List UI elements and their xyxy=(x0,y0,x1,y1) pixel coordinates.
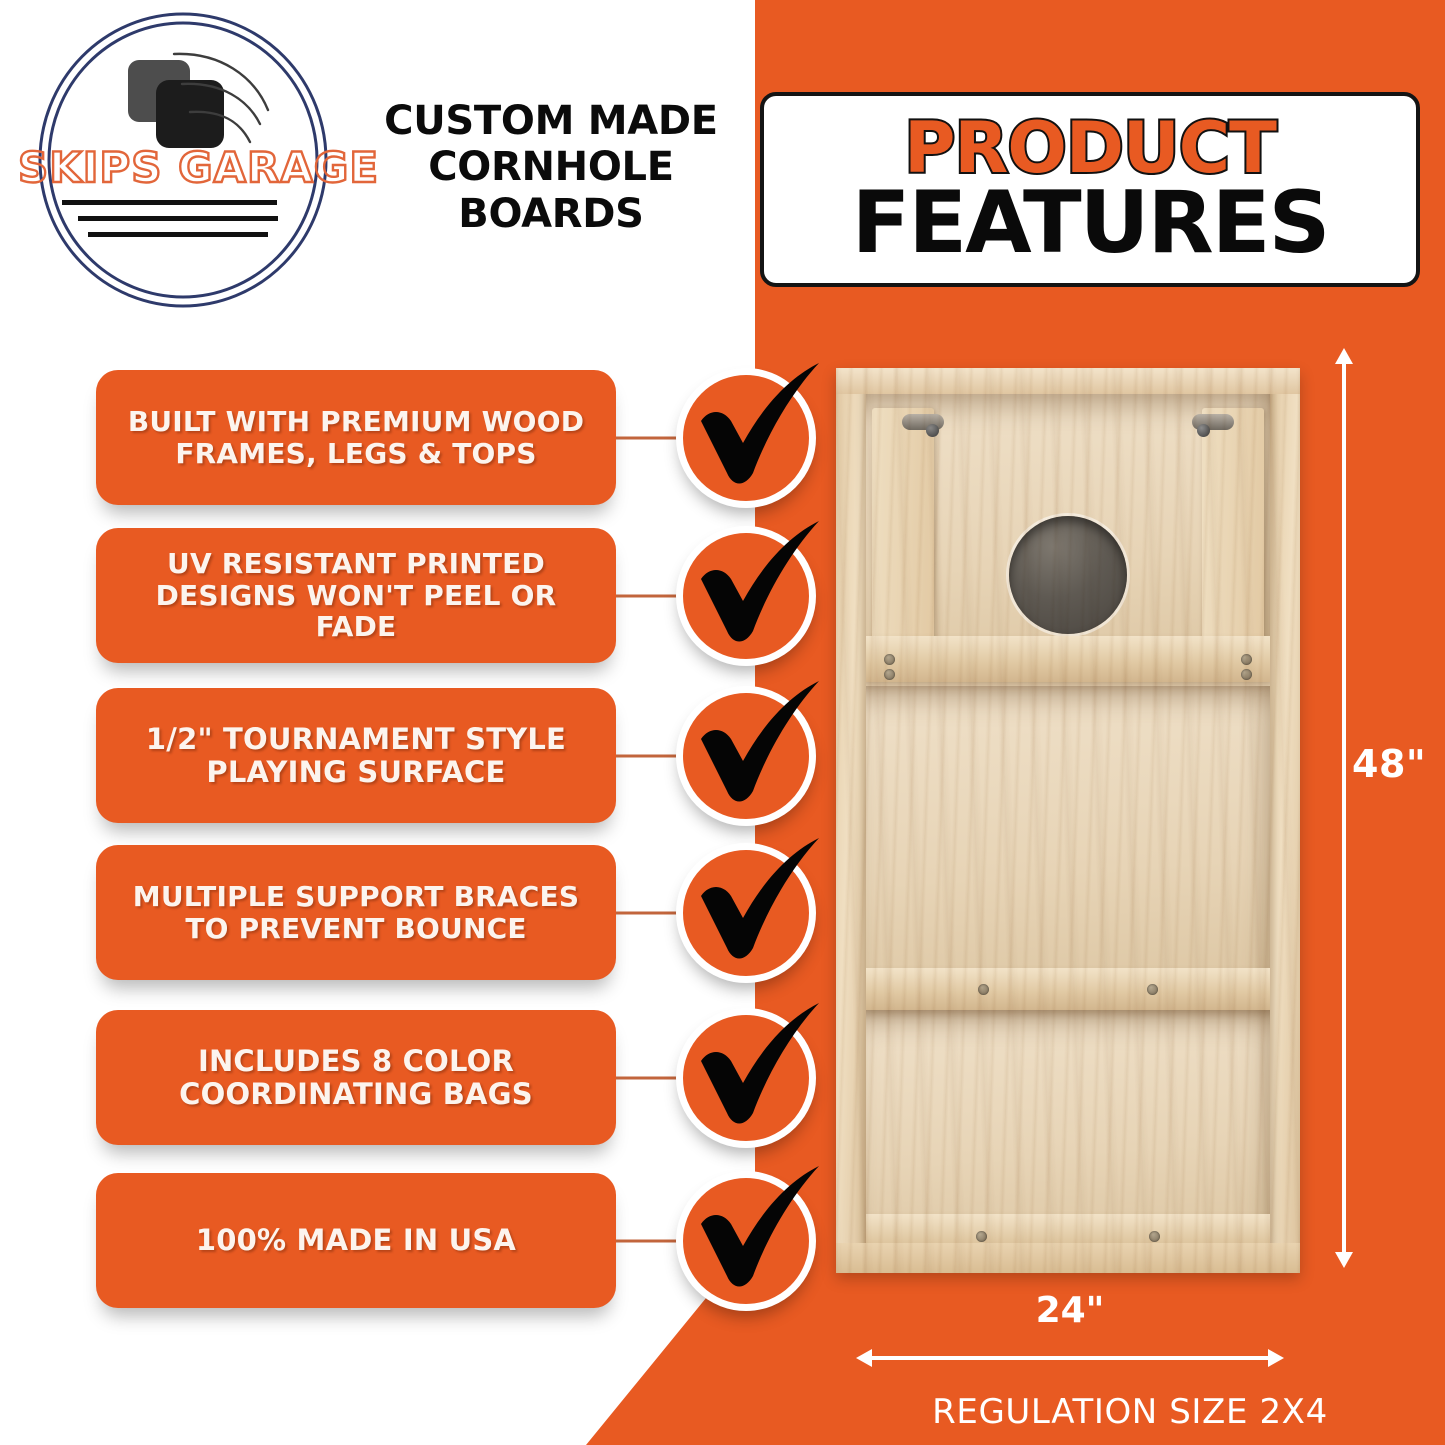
width-dimension-label: 24" xyxy=(856,1290,1284,1331)
feature-pill: INCLUDES 8 COLOR COORDINATING BAGS xyxy=(96,1010,616,1145)
header-line-product: PRODUCT xyxy=(904,115,1276,182)
check-icon xyxy=(676,1008,816,1148)
feature-row: 1/2" TOURNAMENT STYLE PLAYING SURFACE xyxy=(0,688,840,823)
height-dimension-label: 48" xyxy=(1352,742,1426,786)
check-icon xyxy=(676,526,816,666)
check-icon xyxy=(676,1171,816,1311)
regulation-size-caption: REGULATION SIZE 2X4 xyxy=(820,1392,1440,1432)
feature-row: 100% MADE IN USA xyxy=(0,1173,840,1308)
check-icon xyxy=(676,686,816,826)
header-line-features: FEATURES xyxy=(852,183,1329,264)
feature-label: 1/2" TOURNAMENT STYLE PLAYING SURFACE xyxy=(117,723,595,788)
feature-label: INCLUDES 8 COLOR COORDINATING BAGS xyxy=(117,1045,595,1110)
wood-grain-texture xyxy=(836,368,1300,1273)
feature-pill: BUILT WITH PREMIUM WOOD FRAMES, LEGS & T… xyxy=(96,370,616,505)
feature-pill: 1/2" TOURNAMENT STYLE PLAYING SURFACE xyxy=(96,688,616,823)
feature-pill: MULTIPLE SUPPORT BRACES TO PREVENT BOUNC… xyxy=(96,845,616,980)
feature-pill: 100% MADE IN USA xyxy=(96,1173,616,1308)
infographic-canvas: SKIPS GARAGE CUSTOM MADE CORNHOLE BOARDS… xyxy=(0,0,1445,1445)
width-dimension-arrow xyxy=(856,1356,1284,1360)
check-icon xyxy=(676,843,816,983)
check-icon xyxy=(676,368,816,508)
feature-row: BUILT WITH PREMIUM WOOD FRAMES, LEGS & T… xyxy=(0,370,840,505)
feature-label: UV RESISTANT PRINTED DESIGNS WON'T PEEL … xyxy=(117,548,595,642)
feature-row: UV RESISTANT PRINTED DESIGNS WON'T PEEL … xyxy=(0,528,840,663)
feature-row: INCLUDES 8 COLOR COORDINATING BAGS xyxy=(0,1010,840,1145)
feature-list: BUILT WITH PREMIUM WOOD FRAMES, LEGS & T… xyxy=(0,0,840,1445)
cornhole-board-photo xyxy=(836,368,1300,1273)
product-features-header-box: PRODUCT FEATURES xyxy=(760,92,1420,287)
feature-pill: UV RESISTANT PRINTED DESIGNS WON'T PEEL … xyxy=(96,528,616,663)
height-dimension-arrow xyxy=(1342,348,1346,1268)
feature-label: 100% MADE IN USA xyxy=(117,1224,595,1256)
feature-label: BUILT WITH PREMIUM WOOD FRAMES, LEGS & T… xyxy=(117,406,595,469)
feature-row: MULTIPLE SUPPORT BRACES TO PREVENT BOUNC… xyxy=(0,845,840,980)
feature-label: MULTIPLE SUPPORT BRACES TO PREVENT BOUNC… xyxy=(117,881,595,944)
